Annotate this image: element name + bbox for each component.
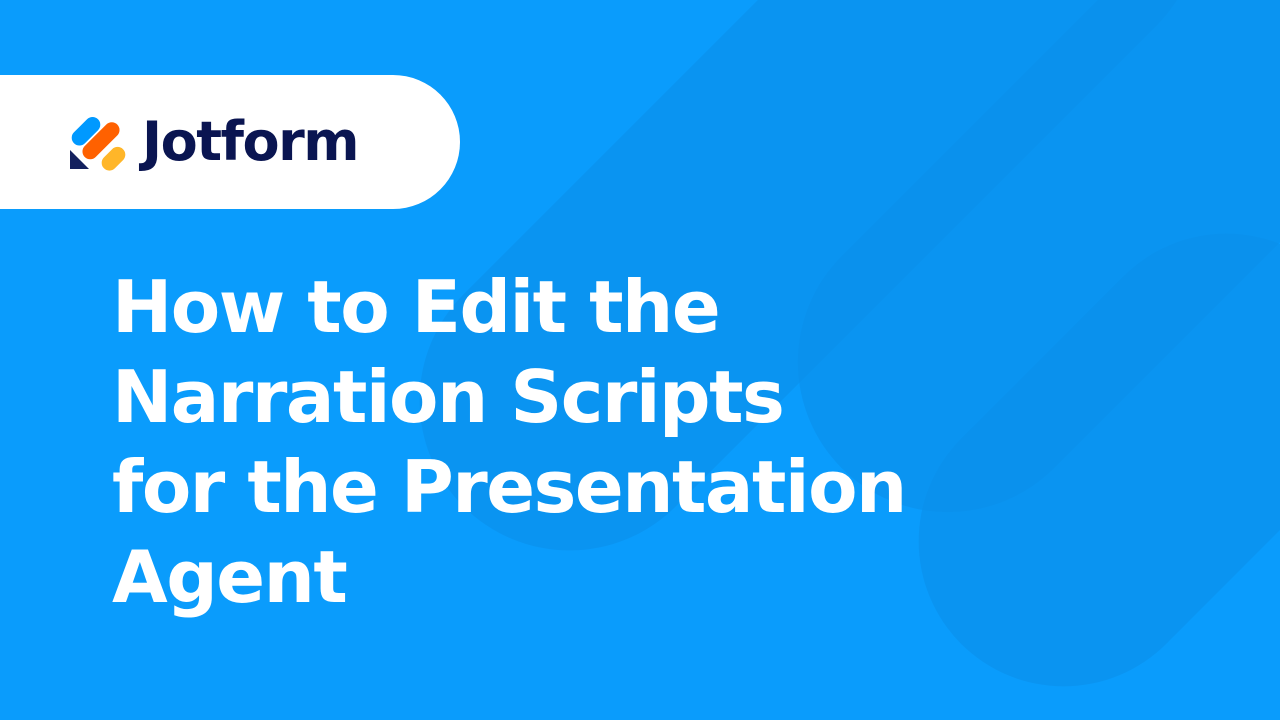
jotform-logo-mark-icon xyxy=(68,111,130,173)
title-line: How to Edit the xyxy=(112,262,912,352)
title-line: Agent xyxy=(112,532,912,622)
slide-title: How to Edit the Narration Scripts for th… xyxy=(112,262,912,622)
jotform-wordmark: Jotform xyxy=(142,115,358,169)
decor-pill-shape xyxy=(859,174,1280,720)
logo-badge: Jotform xyxy=(0,75,460,209)
jotform-logo-lockup: Jotform xyxy=(68,111,358,173)
title-line: Narration Scripts xyxy=(112,352,912,442)
title-slide: Jotform How to Edit the Narration Script… xyxy=(0,0,1280,720)
title-line: for the Presentation xyxy=(112,442,912,532)
